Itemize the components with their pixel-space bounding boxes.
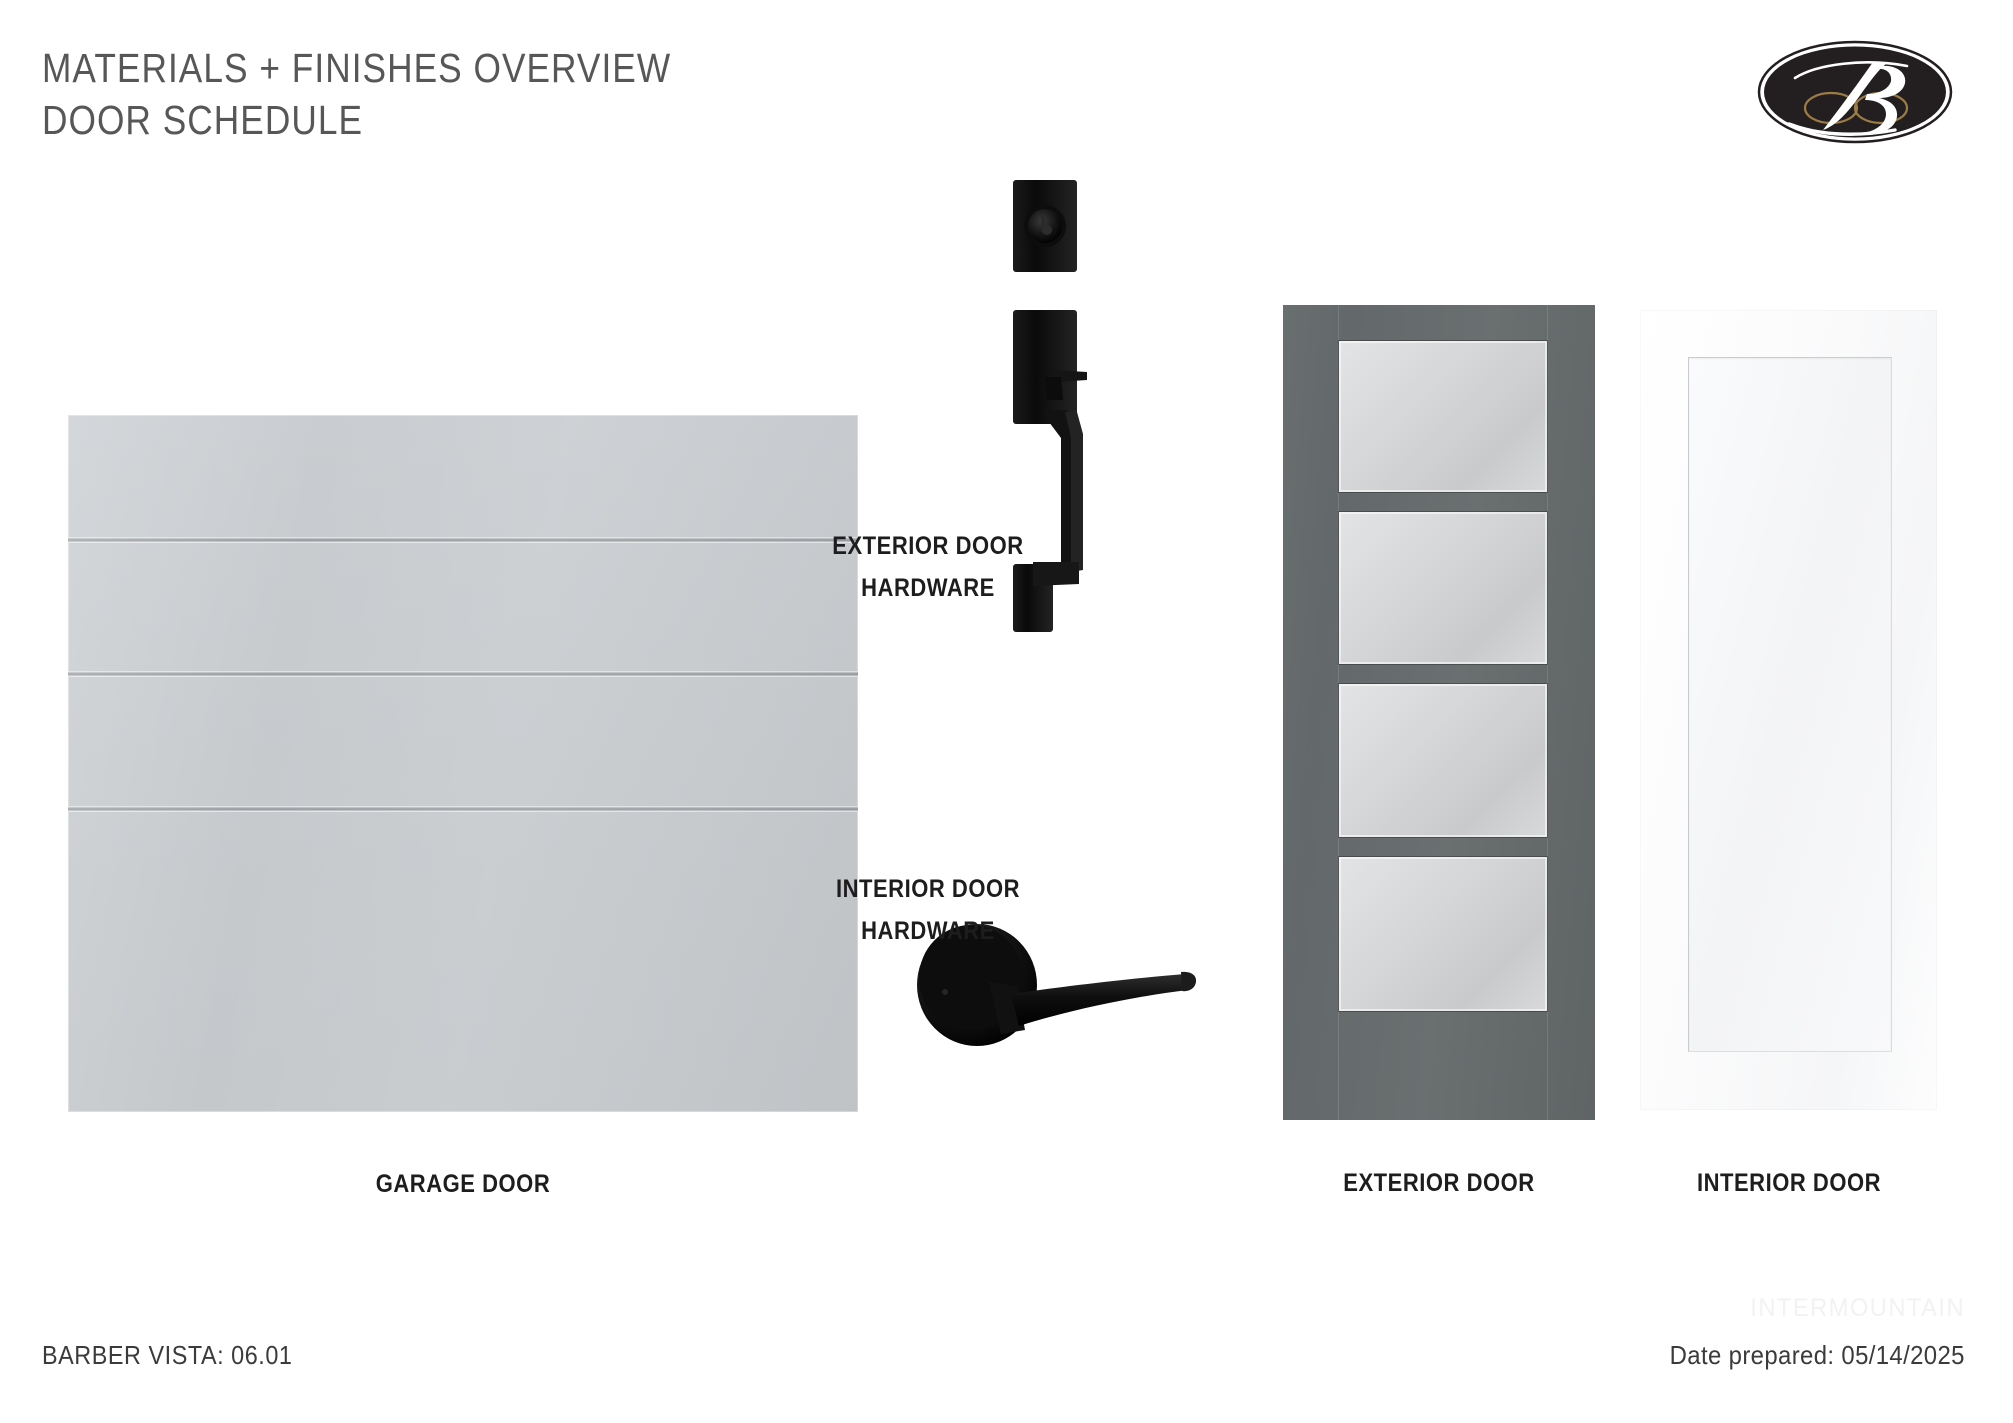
interior-door-hardware-label-line-2: HARDWARE bbox=[739, 910, 1117, 952]
page-title-line-2: DOOR SCHEDULE bbox=[42, 94, 816, 146]
garage-panel-seam bbox=[68, 671, 858, 677]
garage-door-sheen bbox=[68, 415, 858, 1112]
interior-door-hardware-label: INTERIOR DOOR HARDWARE bbox=[739, 868, 1117, 952]
garage-door-label: GARAGE DOOR bbox=[287, 1163, 639, 1205]
date-prepared: Date prepared: 05/14/2025 bbox=[1670, 1340, 1965, 1371]
page-title-line-1: MATERIALS + FINISHES OVERVIEW bbox=[42, 42, 816, 94]
door-glass-lite bbox=[1339, 512, 1547, 664]
page-title: MATERIALS + FINISHES OVERVIEW DOOR SCHED… bbox=[42, 42, 942, 146]
intermountain-watermark: INTERMOUNTAIN bbox=[1750, 1294, 1965, 1323]
garage-panel-seam bbox=[68, 806, 858, 812]
barber-b-logo bbox=[1755, 38, 1955, 146]
door-recessed-panel bbox=[1688, 357, 1892, 1052]
interior-door-hardware-label-line-1: INTERIOR DOOR bbox=[739, 868, 1117, 910]
exterior-door-label: EXTERIOR DOOR bbox=[1263, 1162, 1615, 1204]
materials-finishes-board: MATERIALS + FINISHES OVERVIEW DOOR SCHED… bbox=[0, 0, 2013, 1423]
door-glass-lite bbox=[1339, 857, 1547, 1011]
door-glass-lite bbox=[1339, 341, 1547, 492]
door-glass-lite bbox=[1339, 684, 1547, 837]
exterior-door-swatch bbox=[1283, 305, 1595, 1120]
garage-door-swatch bbox=[68, 415, 858, 1112]
door-stile-line bbox=[1547, 305, 1548, 1120]
exterior-door-hardware-label-line-1: EXTERIOR DOOR bbox=[739, 525, 1117, 567]
project-reference: BARBER VISTA: 06.01 bbox=[42, 1340, 292, 1371]
exterior-door-hardware-label: EXTERIOR DOOR HARDWARE bbox=[739, 525, 1117, 609]
interior-door-label: INTERIOR DOOR bbox=[1613, 1162, 1965, 1204]
exterior-door-hardware-label-line-2: HARDWARE bbox=[739, 567, 1117, 609]
interior-door-swatch bbox=[1640, 310, 1937, 1110]
